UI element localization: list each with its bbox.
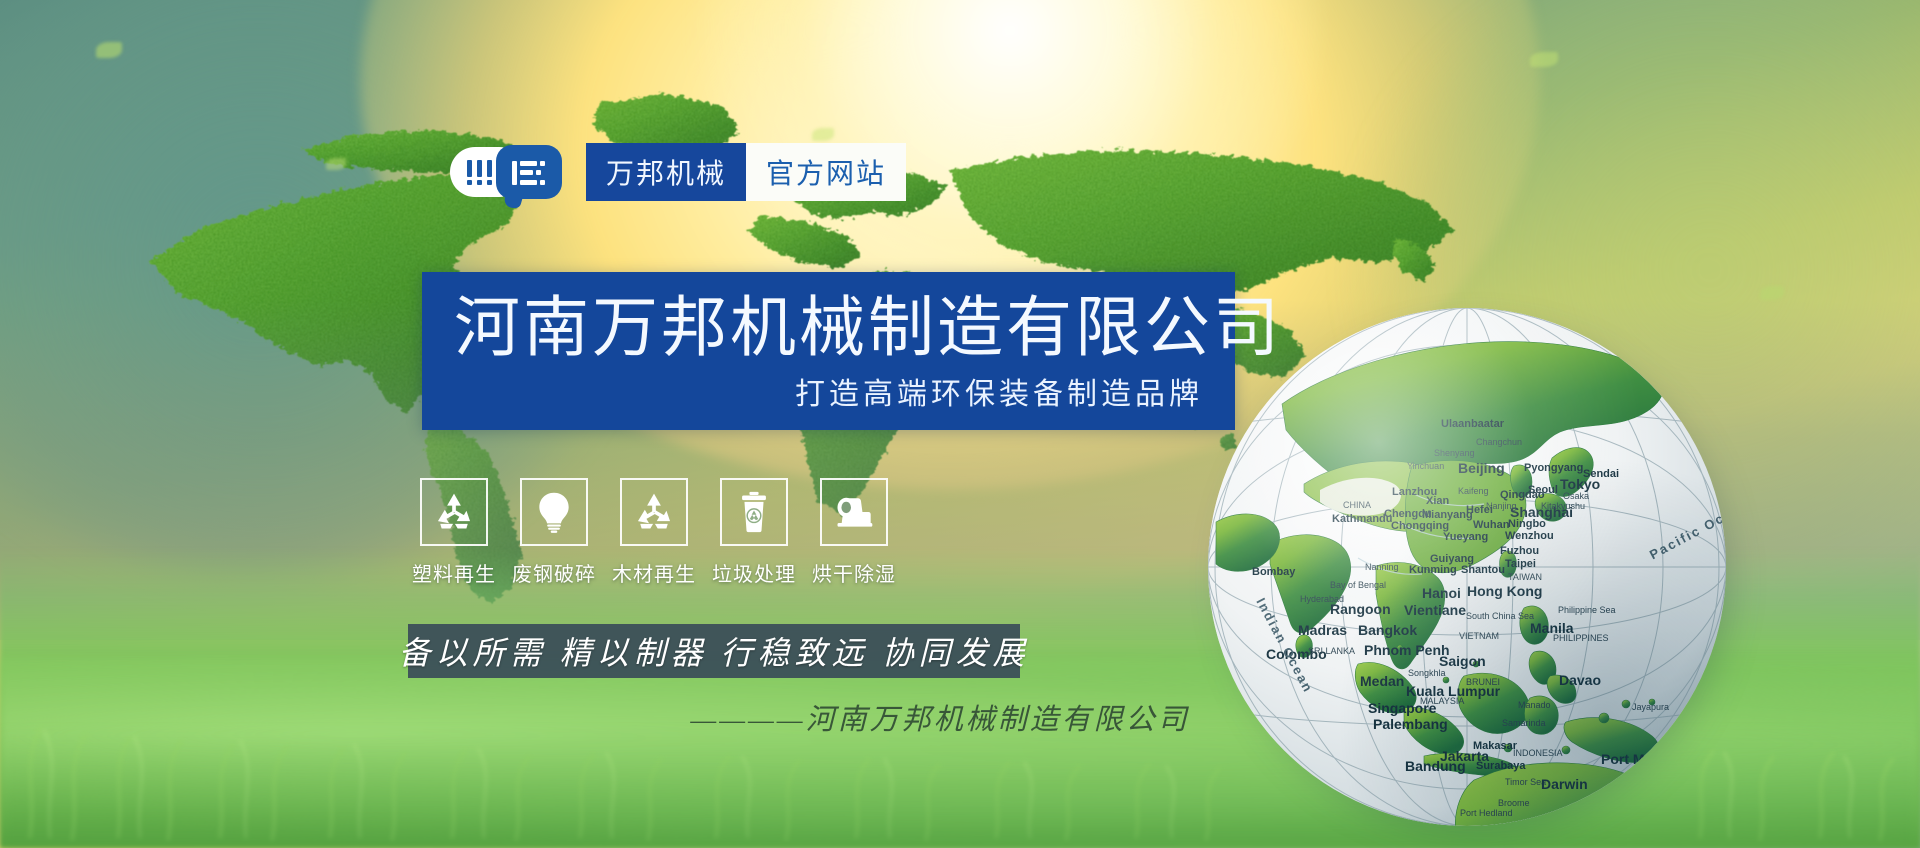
recycle-icon	[432, 490, 476, 534]
globe-city-label: Shantou	[1461, 564, 1505, 576]
dryer-icon	[832, 490, 876, 534]
feature-icon-box	[720, 478, 788, 546]
globe-city-label: Saigon	[1439, 653, 1486, 669]
globe-city-label: Changchun	[1476, 437, 1522, 447]
slogan-band: 备以所需 精以制器 行稳致远 协同发展	[408, 624, 1020, 678]
globe-city-label: Qingdao	[1500, 489, 1545, 501]
feature-label: 塑料再生	[412, 558, 496, 587]
globe-city-label: Xian	[1426, 495, 1449, 507]
globe-city-label: Osaka	[1563, 491, 1589, 501]
globe-city-label: TAIWAN	[1508, 572, 1542, 582]
globe-city-label: Davao	[1559, 672, 1601, 688]
lightbulb-icon	[532, 490, 576, 534]
globe-city-label: Hong Kong	[1467, 583, 1542, 599]
globe-city-label: Wenzhou	[1505, 530, 1554, 542]
globe-city-label: Bombay	[1252, 566, 1295, 578]
globe-city-label: Ulaanbaatar	[1441, 418, 1504, 430]
bokeh-fleck	[1530, 52, 1558, 67]
globe-city-label: Port Moresby	[1601, 751, 1690, 767]
globe-city-label: Kitakyushu	[1541, 501, 1585, 511]
feature-waste-treatment[interactable]: 垃圾处理	[720, 478, 788, 587]
globe-city-label: Vientiane	[1404, 602, 1466, 618]
globe-city-label: Fuzhou	[1500, 545, 1539, 557]
tab-official-site-label: 官方网站	[766, 152, 886, 192]
globe-city-label: Darwin	[1541, 776, 1588, 792]
feature-list: 塑料再生 废钢破碎	[420, 478, 888, 587]
site-header: 万邦机械 官方网站	[450, 143, 906, 201]
slogan-attribution: ————河南万邦机械制造有限公司	[660, 696, 1220, 738]
logo-w-letter-icon	[464, 158, 508, 188]
globe-city-label: Broome	[1498, 798, 1530, 808]
globe-city-label: Palembang	[1373, 716, 1448, 732]
globe-city-label: BRUNEI	[1466, 677, 1500, 687]
globe-city-label: Yinchuan	[1407, 461, 1444, 471]
header-tabs: 万邦机械 官方网站	[586, 143, 906, 201]
globe-city-label: Surabaya	[1476, 760, 1526, 772]
globe-city-label: Bandung	[1405, 758, 1466, 774]
trash-bin-icon	[732, 490, 776, 534]
globe-city-label: VIETNAM	[1459, 631, 1499, 641]
logo-b-letter-icon	[510, 158, 548, 188]
globe-city-label: Samarinda	[1502, 718, 1546, 728]
globe-city-label: Chongqing	[1391, 520, 1449, 532]
globe-city-label: INDONESIA	[1513, 748, 1563, 758]
bokeh-fleck	[96, 42, 122, 58]
bokeh-fleck	[326, 158, 346, 170]
globe-city-label: Bangkok	[1358, 622, 1417, 638]
globe-city-label: Beijing	[1458, 460, 1505, 476]
page-subtitle: 打造高端环保装备制造品牌	[795, 376, 1203, 414]
globe-city-label: PHILIPPINES	[1553, 633, 1609, 643]
globe-city-label: Shenyang	[1434, 448, 1475, 458]
globe-city-label: Manado	[1518, 700, 1551, 710]
feature-label: 垃圾处理	[712, 558, 796, 587]
globe-city-label: Sendai	[1583, 468, 1619, 480]
globe-sphere: BeijingTokyoSeoulPyongyangSendaiUlaanbaa…	[1208, 308, 1726, 826]
tab-official-site[interactable]: 官方网站	[746, 143, 906, 201]
globe-city-label: Madras	[1298, 622, 1347, 638]
slogan-text: 备以所需 精以制器 行稳致远 协同发展	[399, 628, 1030, 674]
globe-city-label: Ningbo	[1508, 518, 1546, 530]
globe-city-label: Kaifeng	[1458, 486, 1489, 496]
globe-city-label: Yueyang	[1443, 531, 1488, 543]
globe-city-label: Medan	[1360, 673, 1404, 689]
page-title: 河南万邦机械制造有限公司	[454, 286, 1282, 368]
globe-city-label: Hanoi	[1422, 585, 1461, 601]
feature-icon-box	[620, 478, 688, 546]
globe-city-label: CHINA	[1343, 500, 1371, 510]
globe-city-label: Nanning	[1365, 562, 1399, 572]
tab-company-label: 万邦机械	[606, 152, 726, 192]
wb-chat-logo[interactable]	[450, 145, 562, 199]
globe-city-label: Pyongyang	[1524, 462, 1583, 474]
hero-banner: 万邦机械 官方网站 河南万邦机械制造有限公司 打造高端环保装备制造品牌	[0, 0, 1920, 848]
globe-city-label: Songkhla	[1408, 668, 1446, 678]
globe-city-label: Jayapura	[1632, 702, 1669, 712]
recycle-icon	[632, 490, 676, 534]
feature-plastic-recycling[interactable]: 塑料再生	[420, 478, 488, 587]
feature-icon-box	[420, 478, 488, 546]
feature-label: 废钢破碎	[512, 558, 596, 587]
globe-city-label: Wuhan	[1473, 519, 1509, 531]
globe-city-label: Hyderabad	[1300, 594, 1344, 604]
globe-city-label: Kunming	[1409, 564, 1457, 576]
feature-icon-box	[820, 478, 888, 546]
globe-city-label: Port Hedland	[1460, 808, 1513, 818]
globe-city-label: SRI LANKA	[1308, 646, 1355, 656]
globe-city-label: Philippine Sea	[1558, 605, 1616, 615]
globe-city-label: South China Sea	[1466, 611, 1534, 621]
globe-city-label: Singapore	[1368, 700, 1436, 716]
feature-label: 烘干除湿	[812, 558, 896, 587]
globe-city-label: Phnom Penh	[1364, 642, 1450, 658]
company-title-panel: 河南万邦机械制造有限公司 打造高端环保装备制造品牌	[422, 272, 1235, 430]
bokeh-fleck	[1760, 286, 1784, 300]
globe-city-label: Bay of Bengal	[1330, 580, 1386, 590]
tab-company[interactable]: 万邦机械	[586, 143, 746, 201]
feature-drying-dehumidifying[interactable]: 烘干除湿	[820, 478, 888, 587]
bokeh-fleck	[812, 128, 834, 141]
globe: BeijingTokyoSeoulPyongyangSendaiUlaanbaa…	[1208, 308, 1738, 838]
feature-scrap-steel-shredding[interactable]: 废钢破碎	[520, 478, 588, 587]
feature-label: 木材再生	[612, 558, 696, 587]
globe-city-label: Hefei	[1466, 504, 1493, 516]
globe-city-label: Kathmandu	[1332, 513, 1393, 525]
feature-icon-box	[520, 478, 588, 546]
feature-wood-recycling[interactable]: 木材再生	[620, 478, 688, 587]
globe-city-label: Taipei	[1505, 558, 1536, 570]
globe-city-label: Timor Sea	[1505, 777, 1546, 787]
